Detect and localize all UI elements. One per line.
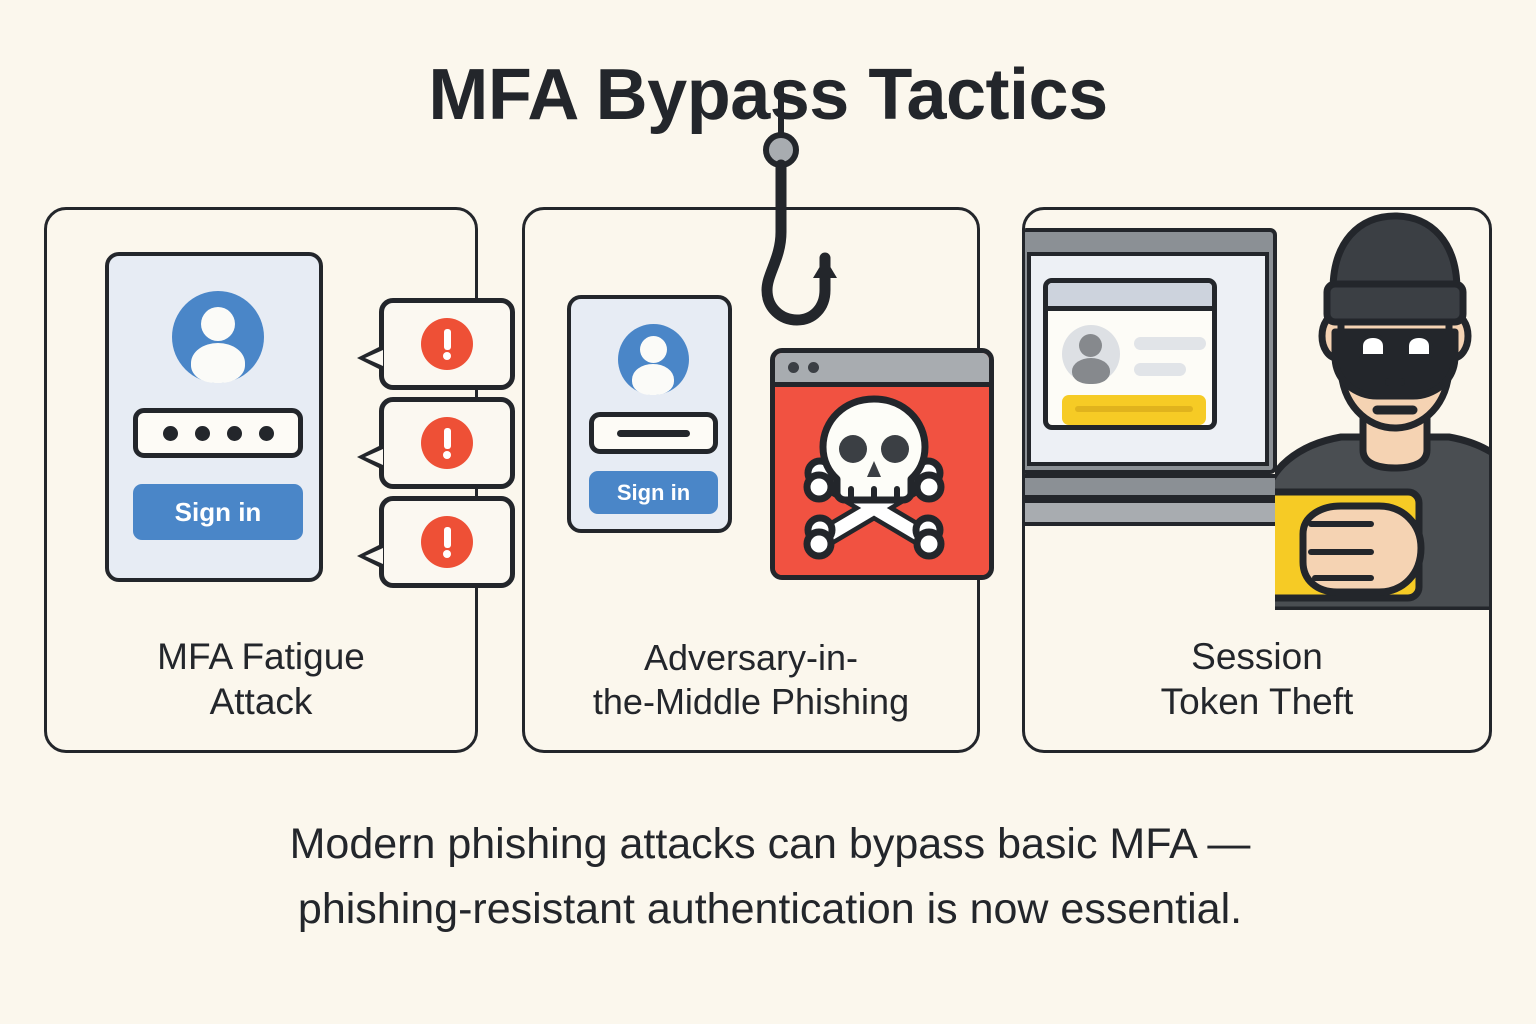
login-panel: Sign in [567, 295, 732, 533]
masked-thief-icon [1275, 210, 1489, 610]
browser-content [775, 387, 989, 575]
sign-in-button[interactable]: Sign in [589, 471, 718, 514]
password-dot [227, 426, 242, 441]
skull-and-crossbones-icon [773, 385, 987, 573]
card-mfa-fatigue-label: MFA Fatigue Attack [53, 634, 469, 724]
card-mfa-fatigue[interactable]: Sign in [44, 207, 478, 753]
bubble-tail [357, 444, 383, 470]
card-aitm-phishing[interactable]: Sign in [522, 207, 980, 753]
password-dot [163, 426, 178, 441]
login-panel: Sign in [105, 252, 323, 582]
profile-text-bar [1134, 337, 1206, 350]
user-avatar-icon [172, 291, 264, 383]
username-field[interactable] [589, 412, 718, 454]
card-aitm-phishing-label: Adversary-in- the-Middle Phishing [531, 636, 971, 724]
card-session-token-theft[interactable]: Session Token Theft [1022, 207, 1492, 753]
user-avatar-icon [618, 324, 689, 395]
window-titlebar [1048, 283, 1212, 311]
mfa-push-alert-bubble[interactable] [379, 496, 515, 588]
alert-exclamation-icon [421, 516, 473, 568]
alert-exclamation-icon [421, 417, 473, 469]
password-field[interactable] [133, 408, 303, 458]
alert-exclamation-icon [421, 318, 473, 370]
bubble-tail [357, 345, 383, 371]
mfa-push-alert-bubble[interactable] [379, 397, 515, 489]
mfa-push-alert-bubble[interactable] [379, 298, 515, 390]
password-dot [195, 426, 210, 441]
infographic-canvas: MFA Bypass Tactics [0, 0, 1536, 1024]
card-session-token-theft-label: Session Token Theft [1031, 634, 1483, 724]
fishing-hook-icon [753, 82, 883, 387]
card-aitm-phishing-art: Sign in [525, 210, 977, 610]
card-mfa-fatigue-art: Sign in [47, 210, 475, 610]
sign-in-button[interactable]: Sign in [133, 484, 303, 540]
profile-text-bar [1134, 363, 1186, 376]
input-text-line [617, 430, 691, 437]
bubble-tail [357, 543, 383, 569]
tactics-card-row: Sign in [44, 207, 1492, 753]
password-dot [259, 426, 274, 441]
summary-caption: Modern phishing attacks can bypass basic… [150, 812, 1390, 943]
session-window [1043, 278, 1217, 430]
session-token-icon [1062, 395, 1206, 425]
card-session-token-theft-art [1025, 210, 1489, 610]
laptop-device [1025, 228, 1289, 538]
